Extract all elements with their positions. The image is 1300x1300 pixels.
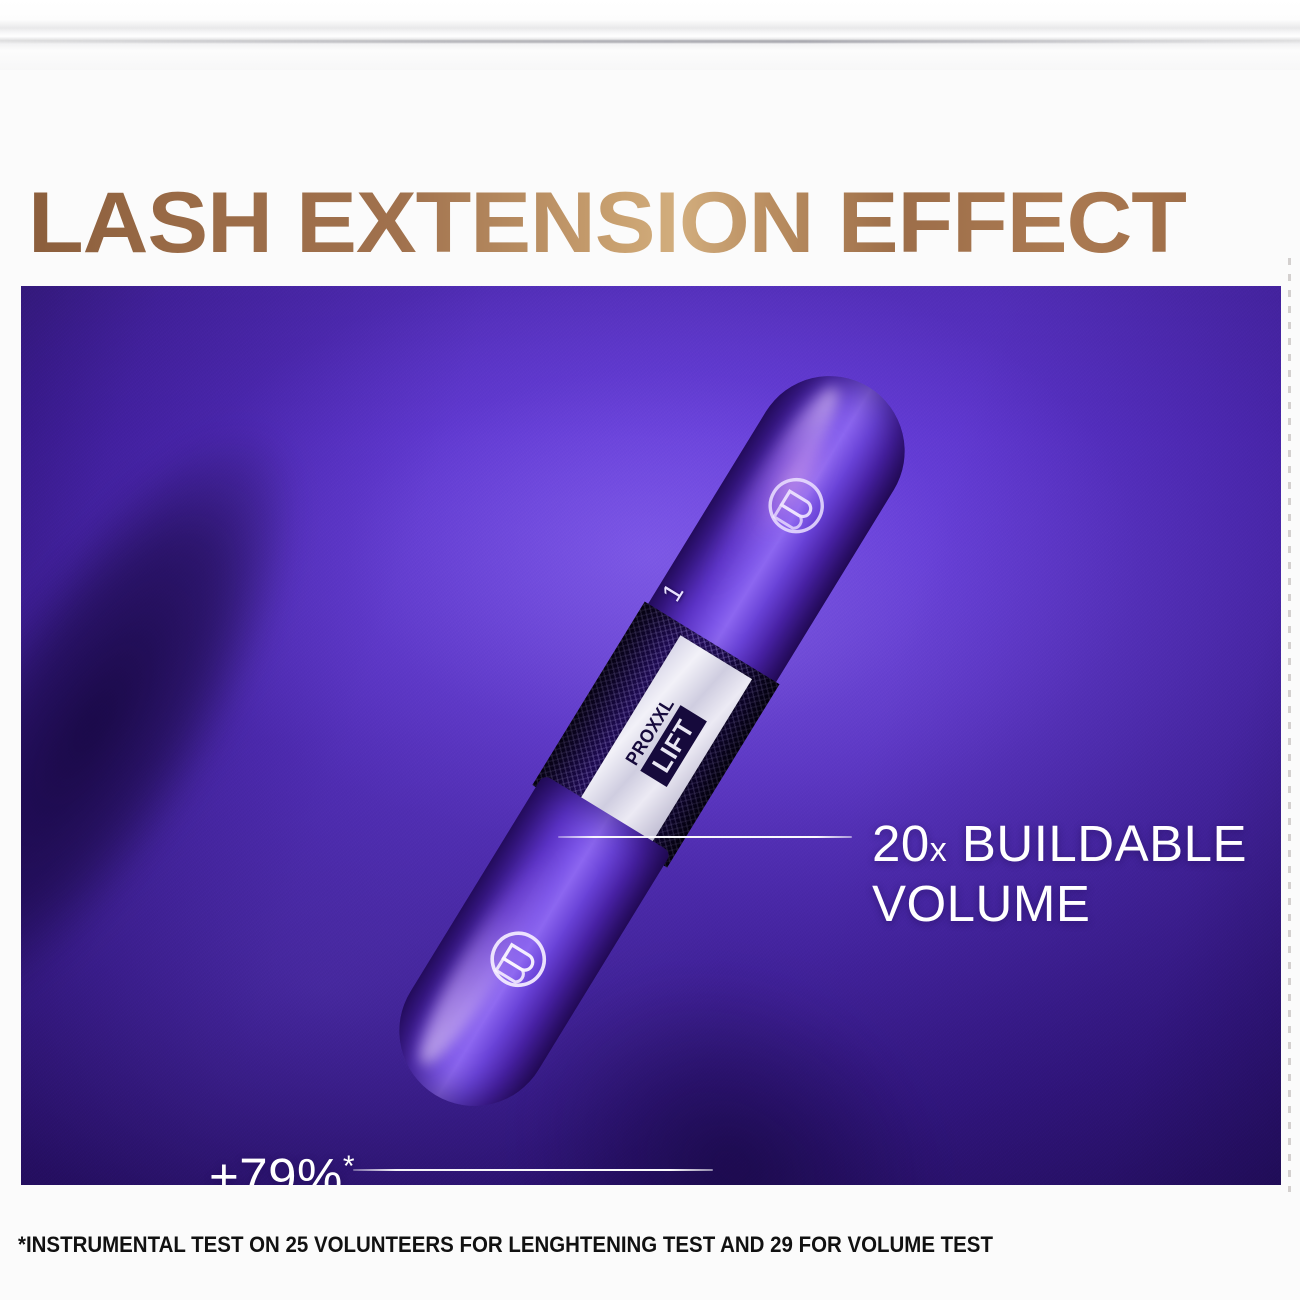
callout-length-metric: +79%* [209, 1150, 583, 1185]
footnote-disclaimer: *INSTRUMENTAL TEST ON 25 VOLUNTEERS FOR … [18, 1232, 1190, 1258]
callout-volume-value: 20 [872, 815, 930, 872]
callout-volume-metric: 20x BUILDABLE [872, 817, 1247, 877]
top-edge-band [0, 0, 1300, 70]
callout-volume-suffix: x [930, 831, 948, 869]
page-edge-artifact [1288, 258, 1291, 1192]
callout-buildable-volume: 20x BUILDABLE VOLUME [872, 817, 1247, 931]
mascara-tube: 1 PROXXL LIFT 2 [371, 348, 933, 1134]
callout-length-asterisk: * [343, 1150, 355, 1183]
page-title: LASH EXTENSION EFFECT [28, 180, 1300, 266]
callout-lenghtening-effect: +79%* LENGHTENING EFFECT [209, 1150, 583, 1185]
callout-volume-desc-2: VOLUME [872, 877, 1247, 931]
callout-volume-desc-1: BUILDABLE [962, 815, 1247, 872]
product-image-panel: 1 PROXXL LIFT 2 20x BUILDAB [21, 286, 1281, 1185]
leader-line-volume [558, 836, 852, 838]
callout-length-value: +79% [209, 1148, 343, 1185]
